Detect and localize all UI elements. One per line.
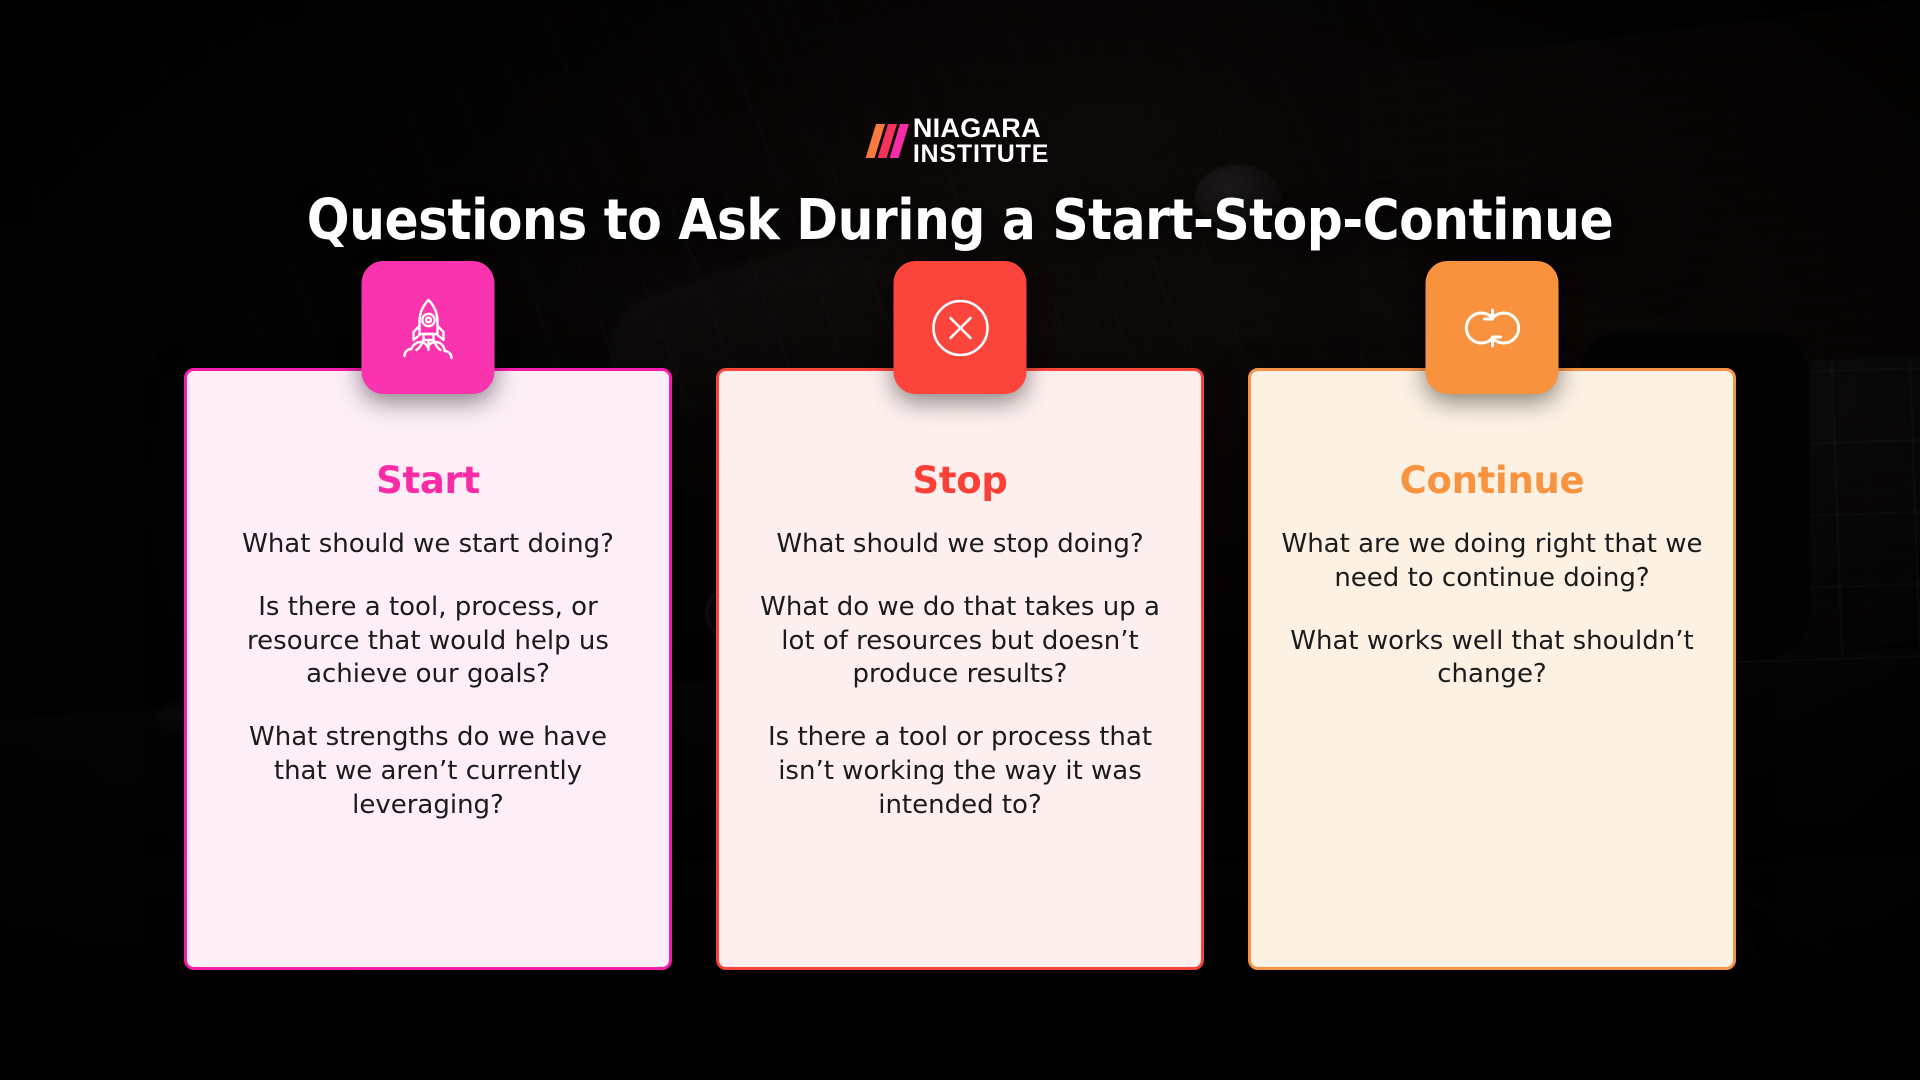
infinity-loop-arrows-icon bbox=[1426, 261, 1559, 394]
question-stop-1: What should we stop doing? bbox=[745, 528, 1175, 562]
cards-row: Start What should we start doing? Is the… bbox=[0, 368, 1920, 970]
question-start-3: What strengths do we have that we aren’t… bbox=[213, 721, 643, 822]
slide-content: NIAGARA INSTITUTE Questions to Ask Durin… bbox=[0, 0, 1920, 1080]
question-continue-1: What are we doing right that we need to … bbox=[1277, 528, 1707, 596]
card-continue: Continue What are we doing right that we… bbox=[1248, 368, 1736, 970]
question-stop-3: Is there a tool or process that isn’t wo… bbox=[745, 721, 1175, 822]
question-start-1: What should we start doing? bbox=[213, 528, 643, 562]
niagara-slashes-icon bbox=[871, 124, 904, 158]
logo-line-2: INSTITUTE bbox=[913, 142, 1049, 166]
slide-canvas: NIAGARA INSTITUTE Questions to Ask Durin… bbox=[0, 0, 1920, 1080]
logo-wordmark: NIAGARA INSTITUTE bbox=[913, 116, 1049, 166]
question-stop-2: What do we do that takes up a lot of res… bbox=[745, 591, 1175, 692]
rocket-icon bbox=[362, 261, 495, 394]
question-continue-2: What works well that shouldn’t change? bbox=[1277, 625, 1707, 693]
card-title-continue: Continue bbox=[1277, 459, 1707, 502]
card-start: Start What should we start doing? Is the… bbox=[184, 368, 672, 970]
card-title-start: Start bbox=[213, 459, 643, 502]
question-start-2: Is there a tool, process, or resource th… bbox=[213, 591, 643, 692]
card-stop: Stop What should we stop doing? What do … bbox=[716, 368, 1204, 970]
circle-x-icon bbox=[894, 261, 1027, 394]
card-title-stop: Stop bbox=[745, 459, 1175, 502]
niagara-institute-logo: NIAGARA INSTITUTE bbox=[871, 116, 1049, 166]
page-title: Questions to Ask During a Start-Stop-Con… bbox=[96, 188, 1824, 253]
logo-line-1: NIAGARA bbox=[913, 116, 1049, 142]
